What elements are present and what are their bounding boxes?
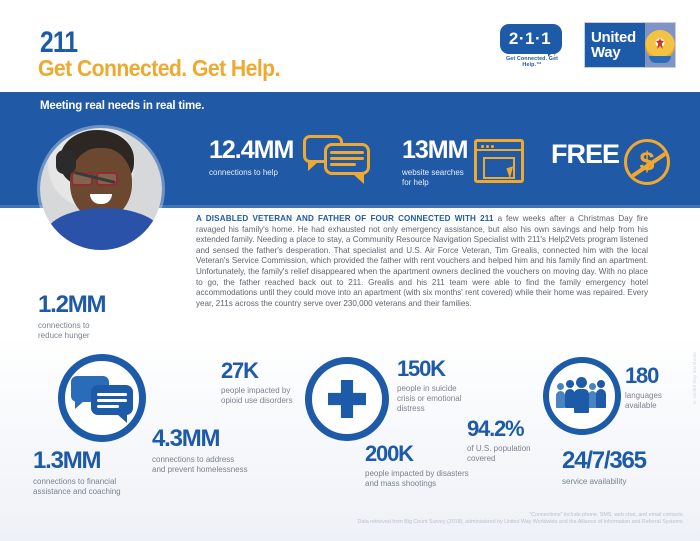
stat-value: 24/7/365	[562, 449, 646, 473]
story-paragraph: A DISABLED VETERAN AND FATHER OF FOUR CO…	[196, 214, 648, 309]
chat-bubble-front-tail	[117, 414, 127, 423]
logo-digits: 2·1·1	[498, 24, 562, 54]
chat-line-2	[330, 157, 364, 160]
stat-label: people in suicide crisis or emotional di…	[397, 384, 461, 414]
band-stat-value: FREE	[551, 141, 619, 168]
chat-bubbles-icon	[58, 354, 146, 442]
footnote-line-2: Data retrieved from Big Count Survey (20…	[264, 519, 684, 527]
person-head-1	[557, 383, 564, 390]
logo-subtitle: Get Connected. Get Help.™	[498, 56, 566, 68]
stat-value: 1.2MM	[38, 293, 105, 317]
person-head-3	[576, 377, 587, 388]
footnote: "Connections" include phone, SMS, web ch…	[264, 512, 684, 527]
tagline: Get Connected. Get Help.	[38, 55, 280, 82]
band-stat-connections: 12.4MM connections to help	[209, 138, 293, 178]
browser-dot-3	[491, 145, 494, 148]
story-body: a few weeks after a Christmas Day fire r…	[196, 214, 648, 308]
no-cost-dollar-icon: $	[624, 139, 670, 185]
211-logo: 2·1·1 Get Connected. Get Help.™	[498, 24, 570, 68]
stat-value: 4.3MM	[152, 427, 248, 451]
stat-label: connections to reduce hunger	[38, 321, 105, 341]
united-way-wordmark: United Way	[585, 23, 645, 67]
chat-bubbles-glyph	[71, 376, 137, 424]
medical-cross-icon	[305, 357, 389, 441]
chat-line-1	[330, 151, 364, 154]
stat-opioid: 27K people impacted by opioid use disord…	[221, 360, 293, 406]
chat-bubble-front-tail	[353, 174, 364, 184]
side-credit: © United Way Worldwide	[692, 352, 697, 405]
band-stat-value: 13MM	[402, 138, 467, 163]
chat-bubble-back-tail	[308, 162, 318, 171]
united-way-logo: United Way	[584, 22, 676, 68]
stat-value: 200K	[365, 443, 469, 465]
band-stat-value: 12.4MM	[209, 138, 293, 163]
band-stat-label: website searches for help	[402, 168, 467, 188]
story-lead: A DISABLED VETERAN AND FATHER OF FOUR CO…	[196, 214, 494, 223]
stat-value: 1.3MM	[33, 449, 121, 473]
band-title: Meeting real needs in real time.	[40, 100, 204, 112]
stat-homelessness: 4.3MM connections to address and prevent…	[152, 427, 248, 475]
chat-line-3	[97, 405, 119, 408]
stat-label: service availability	[562, 477, 646, 487]
stat-availability: 24/7/365 service availability	[562, 449, 646, 487]
stat-value: 27K	[221, 360, 293, 382]
person-head-5	[597, 380, 605, 388]
stat-label: connections to financial assistance and …	[33, 477, 121, 497]
person-head-4	[589, 383, 596, 390]
people-group-icon	[543, 357, 621, 435]
chat-bubbles-icon	[303, 133, 375, 187]
browser-titlebar	[477, 142, 521, 151]
chat-line-1	[97, 393, 127, 396]
footnote-line-1: "Connections" include phone, SMS, web ch…	[264, 512, 684, 520]
browser-window-icon	[474, 139, 524, 183]
avatar	[40, 128, 162, 250]
stat-languages: 180 languages available	[625, 365, 662, 411]
infographic-page: 211 Get Connected. Get Help. 2·1·1 Get C…	[0, 0, 700, 541]
stat-label: people impacted by disasters and mass sh…	[365, 469, 469, 489]
band-stat-searches: 13MM website searches for help	[402, 138, 467, 188]
uw-rainbow-mark	[645, 23, 675, 67]
stat-population: 94.2% of U.S. population covered	[467, 418, 531, 464]
person-body-1	[556, 391, 565, 408]
headset-icon	[56, 150, 76, 174]
stat-label: connections to address and prevent homel…	[152, 455, 248, 475]
stat-hunger: 1.2MM connections to reduce hunger	[38, 293, 105, 341]
stat-value: 180	[625, 365, 662, 387]
person-body-5	[596, 389, 606, 408]
stat-value: 94.2%	[467, 418, 531, 440]
stat-label: of U.S. population covered	[467, 444, 531, 464]
chat-bubble-back-tail	[75, 401, 84, 409]
person-head-2	[566, 380, 574, 388]
chat-line-2	[97, 399, 127, 402]
uw-line1: United	[591, 30, 645, 45]
stat-suicide: 150K people in suicide crisis or emotion…	[397, 358, 461, 414]
header: 211 Get Connected. Get Help. 2·1·1 Get C…	[0, 0, 700, 92]
browser-dot-2	[486, 145, 489, 148]
browser-dot-1	[481, 145, 484, 148]
stat-financial: 1.3MM connections to financial assistanc…	[33, 449, 121, 497]
person-body-3	[574, 389, 589, 413]
cross-glyph	[328, 380, 366, 418]
band-stat-free: FREE	[551, 141, 619, 168]
people-glyph	[557, 377, 607, 417]
stat-label: people impacted by opioid use disorders	[221, 386, 293, 406]
stat-label: languages available	[625, 391, 662, 411]
uw-line2: Way	[591, 45, 645, 60]
chat-line-3	[330, 163, 356, 166]
band-stat-label: connections to help	[209, 168, 293, 178]
stat-value: 150K	[397, 358, 461, 380]
uw-hand-icon	[649, 56, 671, 63]
stat-disasters: 200K people impacted by disasters and ma…	[365, 443, 469, 489]
photo-shirt	[46, 208, 162, 250]
